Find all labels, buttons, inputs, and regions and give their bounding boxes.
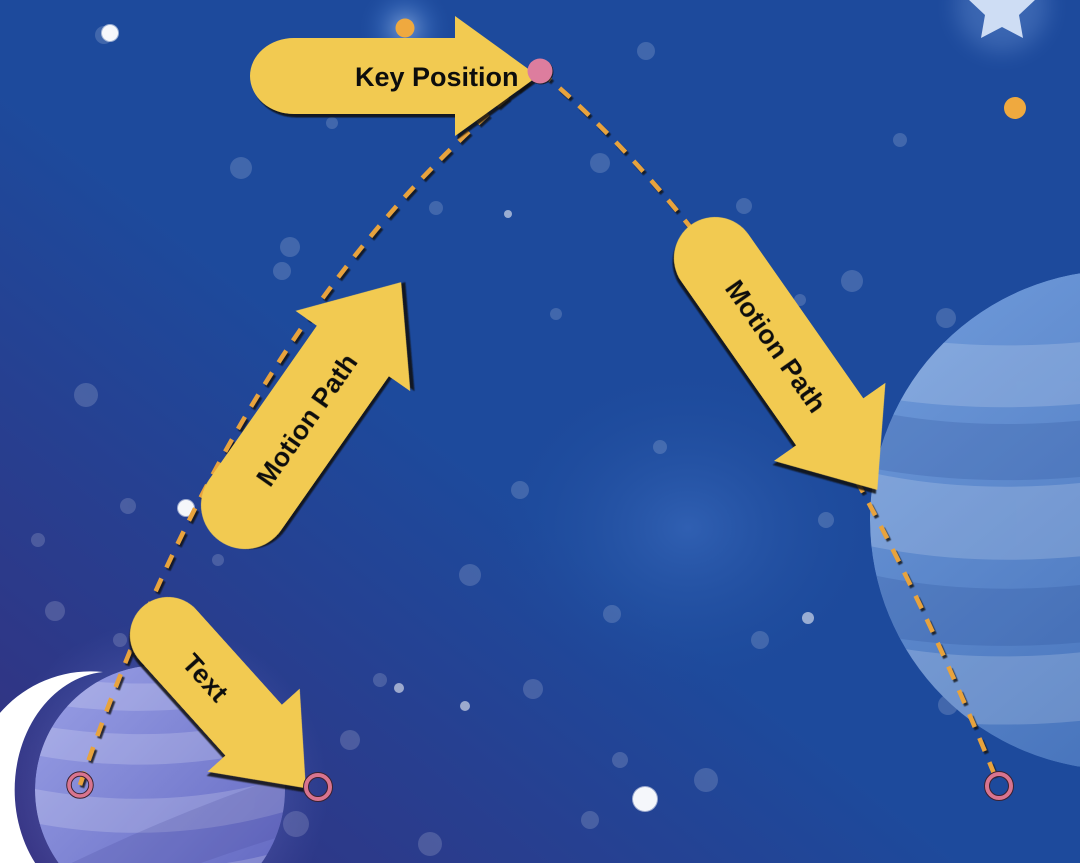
orange-star-dot — [1004, 97, 1026, 119]
key-position-label: Key Position — [355, 62, 519, 92]
scene-canvas: Key Position Motion Path Motion Path Tex… — [0, 0, 1080, 863]
orange-star-dot — [396, 19, 415, 38]
scene-svg: Key Position Motion Path Motion Path Tex… — [0, 0, 1080, 863]
